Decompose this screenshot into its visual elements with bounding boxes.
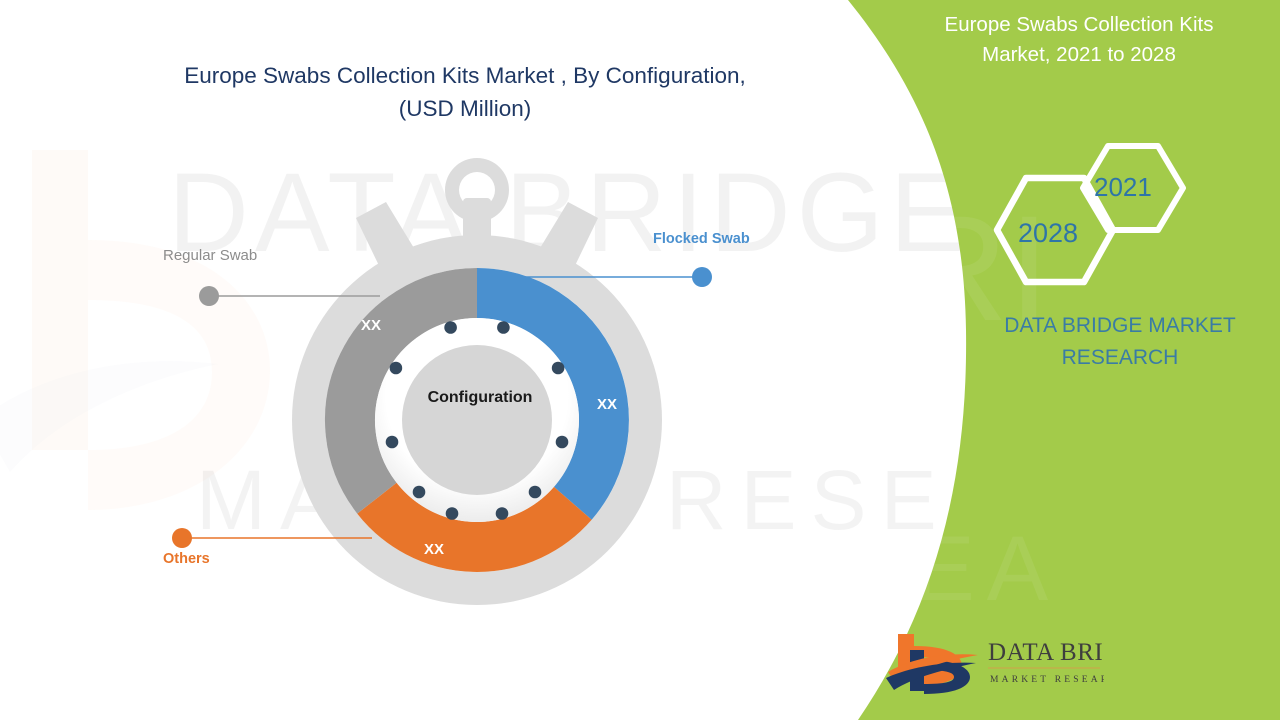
panel-title-line1: Europe Swabs Collection Kits [878, 10, 1280, 40]
svg-text:SEA: SEA [840, 518, 1060, 620]
callout-label-flocked-swab: Flocked Swab [653, 231, 750, 247]
marker-regular-swab[interactable] [199, 286, 219, 306]
panel-title-line2: Market, 2021 to 2028 [878, 40, 1280, 70]
marker-flocked-swab[interactable] [692, 267, 712, 287]
panel-title: Europe Swabs Collection Kits Market, 202… [878, 10, 1280, 69]
callout-others[interactable]: Others [163, 551, 210, 567]
hexagon-badges [980, 140, 1200, 290]
watermark-brand-logo-icon [0, 120, 300, 560]
callout-label-others: Others [163, 551, 210, 567]
chart-title-line2: (USD Million) [120, 93, 810, 126]
hexagon-2028-label: 2028 [1018, 218, 1078, 249]
chart-title: Europe Swabs Collection Kits Market , By… [120, 60, 810, 125]
callout-flocked-swab[interactable]: Flocked Swab [653, 231, 750, 247]
chart-title-line1: Europe Swabs Collection Kits Market , By… [120, 60, 810, 93]
svg-text:MARKET RESEARCH: MARKET RESEARCH [990, 675, 1104, 685]
callout-label-regular-swab: Regular Swab [163, 247, 257, 264]
callout-regular-swab[interactable]: Regular Swab [163, 247, 257, 264]
infographic-slide: DATA BRIDGE MARKET RESEARCH BRI SEA Euro… [0, 0, 1280, 720]
brand-name-line1: DATA BRIDGE MARKET [960, 310, 1280, 342]
donut-hub [402, 345, 552, 495]
svg-text:DATA BRIDGE: DATA BRIDGE [988, 639, 1104, 666]
brand-name-line2: RESEARCH [960, 342, 1280, 374]
segment-value-regular-swab: XX [361, 317, 381, 334]
donut-chart [270, 150, 690, 610]
brand-name-text: DATA BRIDGE MARKET RESEARCH [960, 310, 1280, 373]
segment-value-others: XX [424, 541, 444, 558]
hexagon-2021-label: 2021 [1094, 172, 1152, 203]
marker-others[interactable] [172, 528, 192, 548]
data-bridge-logo-icon: DATA BRIDGE MARKET RESEARCH [886, 628, 1104, 694]
segment-value-flocked-swab: XX [597, 396, 617, 413]
